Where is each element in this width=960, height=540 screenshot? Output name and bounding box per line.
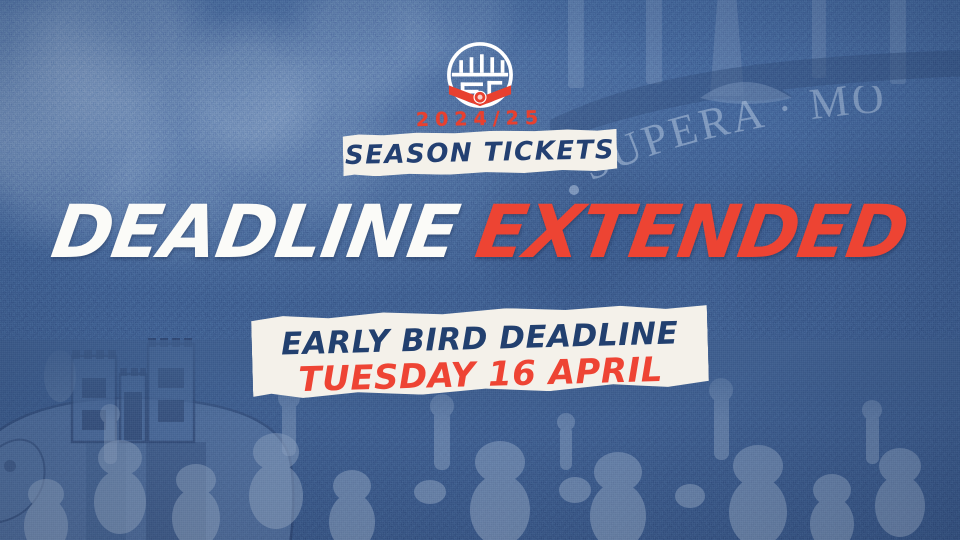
deadline-date-banner: EARLY BIRD DEADLINE TUESDAY 16 APRIL <box>251 303 709 400</box>
bolton-wanderers-crest <box>443 38 517 112</box>
headline-word-deadline: DEADLINE <box>47 196 463 269</box>
season-year-label: 2024/25 <box>416 107 545 131</box>
content-layer: 2024/25 SEASON TICKETS DEADLINEEXTENDED … <box>0 0 960 540</box>
headline: DEADLINEEXTENDED <box>0 196 960 269</box>
promo-graphic-canvas: SUPERA · MO <box>0 0 960 540</box>
headline-word-extended: EXTENDED <box>471 196 913 269</box>
season-tickets-label: SEASON TICKETS <box>343 135 618 171</box>
season-tickets-banner: SEASON TICKETS <box>343 128 618 177</box>
